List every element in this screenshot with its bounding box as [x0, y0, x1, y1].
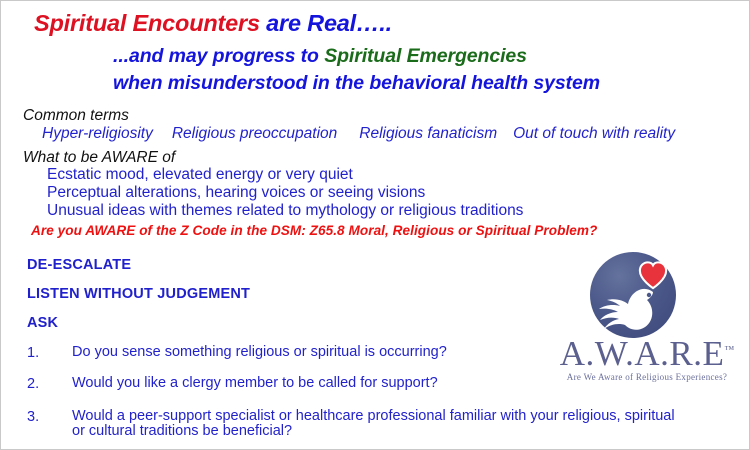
- step-de-escalate: DE-ESCALATE: [27, 257, 131, 273]
- logo-tagline: Are We Aware of Religious Experiences?: [553, 372, 741, 382]
- dsm-z-code-alert: Are you AWARE of the Z Code in the DSM: …: [31, 223, 597, 238]
- step-ask: ASK: [27, 315, 58, 331]
- slide-canvas: Spiritual Encounters are Real….. ...and …: [0, 0, 750, 450]
- title-part-red: Spiritual Encounters: [34, 10, 260, 36]
- common-term-1: Religious preoccupation: [172, 125, 337, 143]
- common-term-2: Religious fanaticism: [359, 125, 497, 143]
- title-part-blue: are Real…..: [260, 10, 392, 36]
- question-text: Would a peer-support specialist or healt…: [72, 409, 687, 439]
- question-number: 2.: [27, 376, 55, 392]
- aware-bullet-2: Unusual ideas with themes related to myt…: [47, 202, 523, 220]
- question-number: 3.: [27, 409, 55, 425]
- common-terms-label: Common terms: [23, 107, 129, 125]
- title-part-green: Spiritual Emergencies: [324, 45, 527, 67]
- what-to-be-aware-of-label: What to be AWARE of: [23, 149, 175, 167]
- aware-logo: A.W.A.R.E™ Are We Aware of Religious Exp…: [553, 252, 741, 392]
- logo-wordmark: A.W.A.R.E™: [553, 336, 741, 371]
- common-terms-row: Hyper-religiosityReligious preoccupation…: [42, 125, 748, 143]
- title-part-blue-2: ...and may progress to: [113, 45, 324, 67]
- aware-bullet-0: Ecstatic mood, elevated energy or very q…: [47, 166, 353, 184]
- logo-wordmark-text: A.W.A.R.E: [560, 334, 725, 373]
- step-listen-without-judgement: LISTEN WITHOUT JUDGEMENT: [27, 286, 250, 302]
- circle-badge-icon: [590, 252, 676, 338]
- title-line-2: ...and may progress to Spiritual Emergen…: [113, 45, 527, 68]
- common-term-3: Out of touch with reality: [513, 125, 675, 143]
- title-line-3: when misunderstood in the behavioral hea…: [113, 72, 600, 95]
- common-term-0: Hyper-religiosity: [42, 125, 153, 143]
- question-number: 1.: [27, 345, 55, 361]
- title-part-blue-3: when misunderstood in the behavioral hea…: [113, 72, 600, 94]
- aware-bullet-1: Perceptual alterations, hearing voices o…: [47, 184, 425, 202]
- trademark-icon: ™: [724, 344, 734, 355]
- question-item: 3. Would a peer-support specialist or he…: [27, 409, 687, 439]
- title-line-1: Spiritual Encounters are Real…..: [34, 10, 392, 37]
- heart-icon: [638, 260, 668, 290]
